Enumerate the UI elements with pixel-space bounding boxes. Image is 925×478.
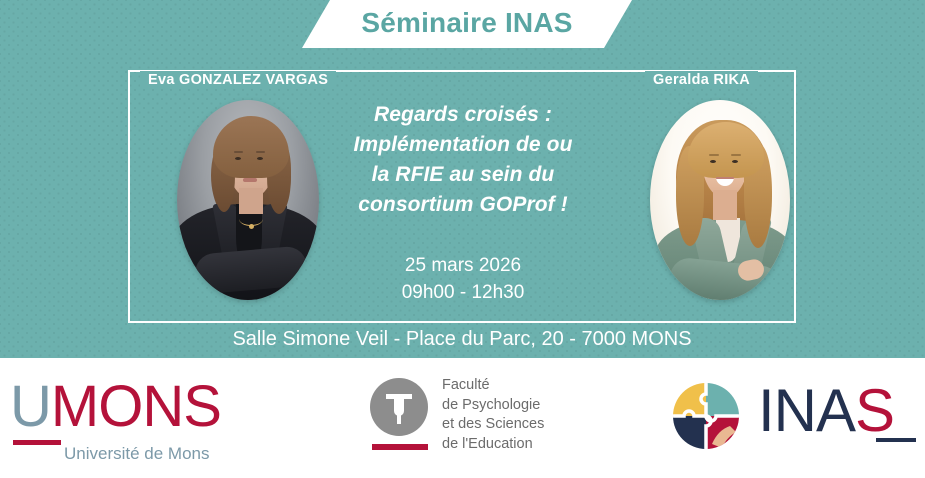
eyebrow-left (234, 151, 243, 153)
inas-suffix: S (855, 377, 894, 444)
umons-underline (13, 440, 61, 445)
eyebrow-right (731, 154, 741, 156)
talk-title: Regards croisés : Implémentation de ou l… (318, 100, 608, 220)
speaker-portrait-left (177, 100, 319, 300)
speaker-name-right: Geralda RIKA (645, 71, 758, 89)
event-date: 25 mars 2026 (318, 252, 608, 279)
banner-title: Séminaire INAS (361, 7, 572, 39)
neck (713, 190, 737, 220)
inas-wordmark: INAS (758, 374, 894, 448)
talk-title-line-3: la RFIE au sein du (318, 160, 608, 190)
inas-prefix: INA (758, 377, 855, 444)
puzzle-circle-icon (672, 382, 740, 450)
faculty-name-line-1: Faculté (442, 376, 544, 396)
faculty-underline (372, 444, 428, 450)
event-datetime: 25 mars 2026 09h00 - 12h30 (318, 252, 608, 306)
event-location: Salle Simone Veil - Place du Parc, 20 - … (128, 325, 796, 353)
umons-logo: UMONS Université de Mons (10, 378, 260, 464)
seminar-poster: Séminaire INAS Eva GONZALEZ VARGAS Geral… (0, 0, 925, 478)
neck (239, 188, 263, 214)
seminar-banner: Séminaire INAS (302, 0, 632, 48)
faculty-name-line-2: de Psychologie (442, 396, 544, 416)
inas-logo: INAS (672, 376, 917, 456)
psi-shield-icon (370, 378, 428, 436)
eyebrow-left (709, 154, 719, 156)
talk-title-line-2: Implémentation de ou (318, 130, 608, 160)
eye-left (710, 160, 716, 163)
eye-right (257, 157, 263, 160)
necklace-pendant-icon (249, 224, 254, 229)
inas-underline (876, 438, 916, 442)
talk-title-line-1: Regards croisés : (318, 100, 608, 130)
eyebrow-right (256, 151, 265, 153)
umons-wordmark: UMONS (10, 378, 260, 436)
umons-initial: U (10, 374, 51, 439)
eye-left (235, 157, 241, 160)
speaker-name-left: Eva GONZALEZ VARGAS (140, 71, 336, 89)
mouth (243, 178, 257, 182)
speaker-portrait-right (650, 100, 790, 300)
faculty-name: Faculté de Psychologie et des Sciences d… (442, 376, 544, 454)
faculty-name-line-3: et des Sciences (442, 415, 544, 435)
umons-subtitle: Université de Mons (64, 444, 210, 464)
umons-rest: MONS (51, 374, 221, 439)
faculty-name-line-4: de l'Education (442, 435, 544, 455)
hair-front (213, 116, 289, 178)
logo-strip: UMONS Université de Mons Faculté de Psyc… (0, 358, 925, 478)
event-time: 09h00 - 12h30 (318, 279, 608, 306)
faculty-logo: Faculté de Psychologie et des Sciences d… (370, 372, 600, 464)
talk-title-line-4: consortium GOProf ! (318, 190, 608, 220)
eye-right (732, 160, 738, 163)
